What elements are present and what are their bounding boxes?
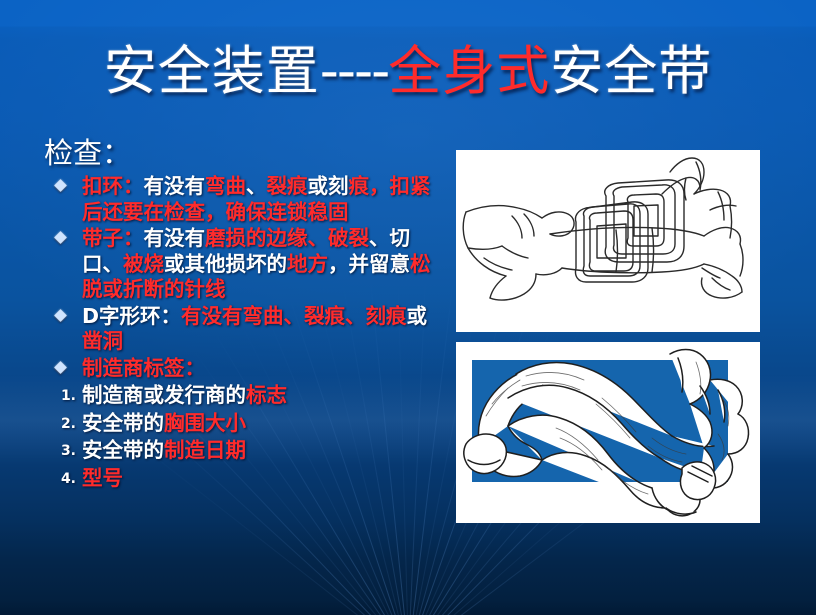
bullet-segment: 有没有弯曲、裂痕、刻痕	[181, 304, 407, 328]
numbered-item: 3. 安全带的制造日期	[44, 437, 442, 464]
title-part-3: 安全带	[550, 41, 712, 102]
numbered-item: 4. 型号	[44, 465, 442, 492]
numbered-segment: 安全带的	[82, 438, 164, 462]
bullet-segment: ，并留意	[328, 252, 410, 276]
numbered-text: 型号	[82, 466, 123, 490]
bullet-segment: 被烧	[123, 252, 164, 276]
section-heading: 检查：	[44, 136, 442, 170]
bullet-segment: 或	[407, 304, 428, 328]
bullet-segment: D字形环：	[82, 304, 181, 328]
bullet-segment: 磨损的边缘、破裂	[205, 226, 369, 250]
diamond-bullet-icon	[54, 309, 67, 322]
diamond-bullet-icon	[54, 179, 67, 192]
numbered-segment: 制造商或发行商的	[82, 383, 246, 407]
bullet-text: 制造商标签：	[82, 356, 205, 380]
bullet-segment: 制造商标签：	[82, 356, 205, 380]
numbered-text: 安全带的制造日期	[82, 438, 246, 462]
bullet-item: 带子：有没有磨损的边缘、破裂、切口、被烧或其他损坏的地方，并留意松脱或折断的针线	[44, 226, 442, 303]
numbered-segment: 安全带的	[82, 411, 164, 435]
bullet-item: 制造商标签：	[44, 356, 442, 382]
bullet-segment: 带子：	[82, 226, 144, 250]
bullet-text: 扣环：有没有弯曲、裂痕或刻痕，扣紧后还要在检查，确保连锁稳固	[82, 174, 431, 224]
list-number: 3.	[52, 441, 76, 461]
bullet-text: D字形环：有没有弯曲、裂痕、刻痕或凿洞	[82, 304, 427, 354]
title-part-1: 安全装置	[104, 41, 320, 102]
bullet-segment: 有没有	[144, 226, 206, 250]
bullet-segment: 地方	[287, 252, 328, 276]
list-number: 4.	[52, 469, 76, 489]
bullet-segment: 或刻	[308, 174, 349, 198]
bullet-item: D字形环：有没有弯曲、裂痕、刻痕或凿洞	[44, 304, 442, 355]
buckle-inspection-illustration	[456, 150, 760, 332]
title-part-2-highlight: 全身式	[388, 41, 550, 102]
numbered-text: 安全带的胸围大小	[82, 411, 246, 435]
numbered-item: 2. 安全带的胸围大小	[44, 410, 442, 437]
bullet-segment: 有没有	[144, 174, 206, 198]
bullet-segment: 凿洞	[82, 329, 123, 353]
bullet-text: 带子：有没有磨损的边缘、破裂、切口、被烧或其他损坏的地方，并留意松脱或折断的针线	[82, 226, 431, 301]
content-text-column: 检查： 扣环：有没有弯曲、裂痕或刻痕，扣紧后还要在检查，确保连锁稳固 带子：有没…	[44, 136, 442, 492]
presentation-slide: 安全装置----全身式安全带 检查： 扣环：有没有弯曲、裂痕或刻痕，扣紧后还要在…	[0, 0, 816, 615]
bullet-segment: 扣环：	[82, 174, 144, 198]
numbered-segment: 标志	[246, 383, 287, 407]
numbered-text: 制造商或发行商的标志	[82, 383, 287, 407]
numbered-segment: 制造日期	[164, 438, 246, 462]
title-dashes: ----	[320, 41, 389, 102]
bullet-segment: 弯曲	[205, 174, 246, 198]
slide-title: 安全装置----全身式安全带	[0, 42, 816, 102]
numbered-segment: 型号	[82, 466, 123, 490]
webbing-inspection-illustration	[456, 342, 760, 523]
diamond-bullet-icon	[54, 231, 67, 244]
list-number: 1.	[52, 386, 76, 406]
bullet-segment: 或其他损坏的	[164, 252, 287, 276]
bullet-item: 扣环：有没有弯曲、裂痕或刻痕，扣紧后还要在检查，确保连锁稳固	[44, 174, 442, 225]
bullet-segment: 、	[246, 174, 267, 198]
diamond-bullet-icon	[54, 361, 67, 374]
bullet-segment: 裂痕	[267, 174, 308, 198]
numbered-item: 1. 制造商或发行商的标志	[44, 382, 442, 409]
numbered-segment: 胸围大小	[164, 411, 246, 435]
list-number: 2.	[52, 414, 76, 434]
